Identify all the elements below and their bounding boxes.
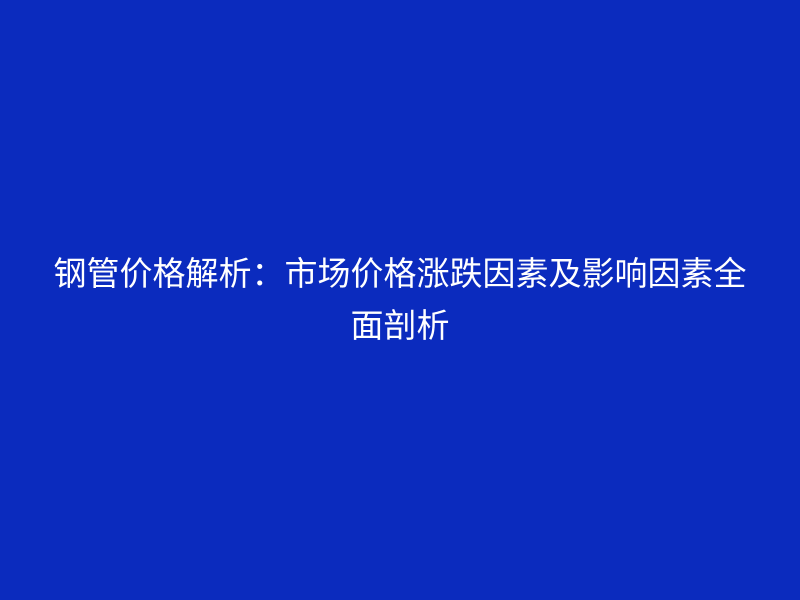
title-block: 钢管价格解析：市场价格涨跌因素及影响因素全面剖析 <box>50 248 750 352</box>
title-card-background: 钢管价格解析：市场价格涨跌因素及影响因素全面剖析 <box>0 0 800 600</box>
page-title: 钢管价格解析：市场价格涨跌因素及影响因素全面剖析 <box>50 248 750 352</box>
